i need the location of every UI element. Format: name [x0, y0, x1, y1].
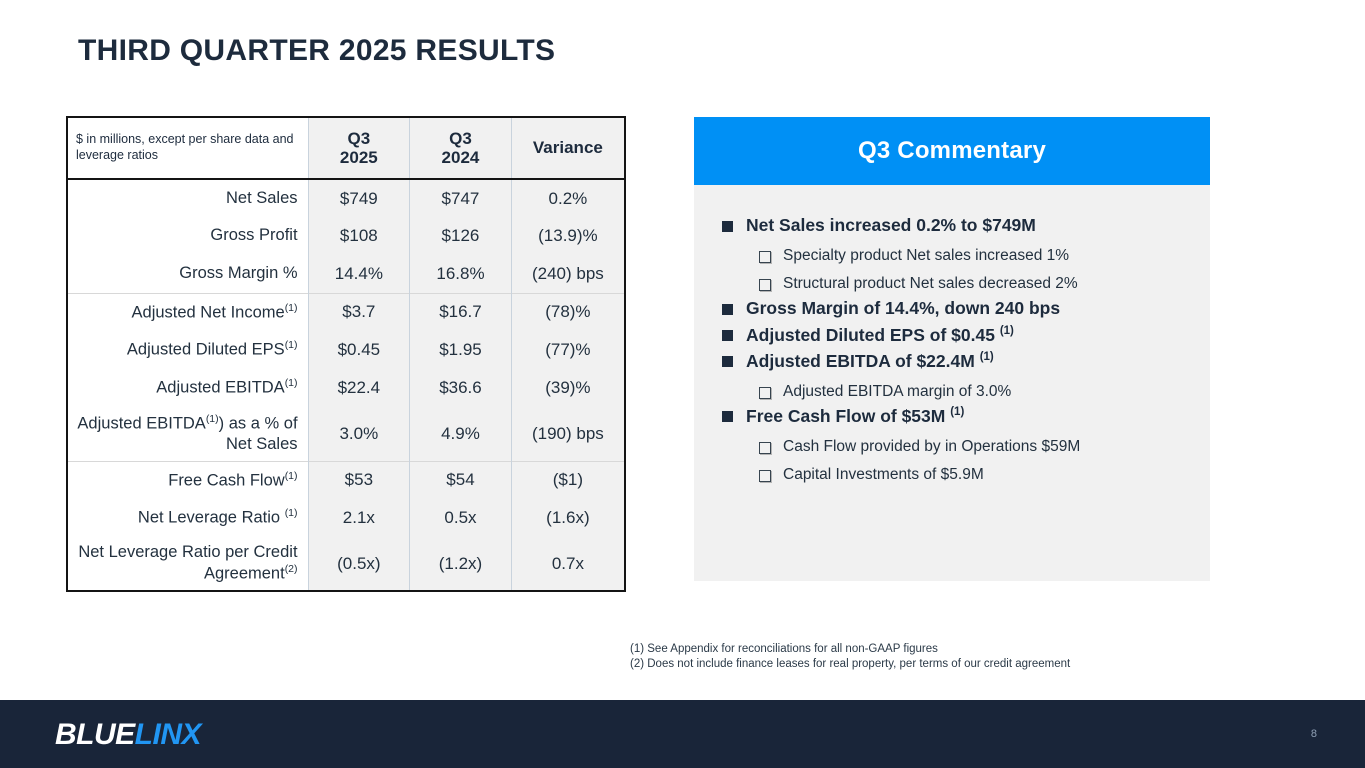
commentary-bullet: Adjusted EBITDA of $22.4M (1)	[722, 350, 1192, 373]
cell-q3-2025: $3.7	[308, 293, 410, 331]
footnote-2: (2) Does not include finance leases for …	[630, 657, 1070, 672]
cell-variance: ($1)	[511, 461, 625, 499]
commentary-bullet: Free Cash Flow of $53M (1)	[722, 405, 1192, 428]
commentary-subbullet: Structural product Net sales decreased 2…	[759, 274, 1192, 293]
cell-variance: 0.2%	[511, 179, 625, 217]
cell-q3-2025: (0.5x)	[308, 537, 410, 591]
financial-results-table: $ in millions, except per share data and…	[66, 116, 626, 592]
cell-q3-2024: 0.5x	[410, 499, 512, 537]
commentary-panel: Q3 Commentary Net Sales increased 0.2% t…	[694, 117, 1210, 581]
commentary-bullet-text: Adjusted EBITDA of $22.4M (1)	[746, 350, 994, 373]
page-number: 8	[1311, 728, 1317, 740]
table-row: Gross Profit$108$126(13.9)%	[67, 217, 625, 255]
cell-variance: (39)%	[511, 369, 625, 407]
filled-square-bullet-icon	[722, 411, 733, 422]
commentary-bullet: Adjusted Diluted EPS of $0.45 (1)	[722, 324, 1192, 347]
table-header-q3-2024: Q3 2024	[410, 117, 512, 179]
table-row: Gross Margin %14.4%16.8%(240) bps	[67, 255, 625, 293]
table-body: Net Sales$749$7470.2%Gross Profit$108$12…	[67, 179, 625, 591]
cell-variance: (13.9)%	[511, 217, 625, 255]
cell-q3-2024: $54	[410, 461, 512, 499]
cell-q3-2024: $747	[410, 179, 512, 217]
row-label: Net Sales	[67, 179, 308, 217]
cell-variance: 0.7x	[511, 537, 625, 591]
logo-text-blue: BLUE	[55, 718, 135, 751]
cell-q3-2025: 2.1x	[308, 499, 410, 537]
bullet-footnote-marker: (1)	[950, 406, 964, 418]
row-label: Adjusted Net Income(1)	[67, 293, 308, 331]
table-row: Adjusted Net Income(1)$3.7$16.7(78)%	[67, 293, 625, 331]
cell-q3-2025: $22.4	[308, 369, 410, 407]
cell-q3-2025: $0.45	[308, 331, 410, 369]
cell-variance: (190) bps	[511, 407, 625, 461]
footnote-1: (1) See Appendix for reconciliations for…	[630, 642, 1070, 657]
filled-square-bullet-icon	[722, 304, 733, 315]
cell-q3-2024: 4.9%	[410, 407, 512, 461]
table-header-units-note: $ in millions, except per share data and…	[67, 117, 308, 179]
commentary-subbullet-text: Specialty product Net sales increased 1%	[783, 246, 1069, 265]
row-label: Adjusted Diluted EPS(1)	[67, 331, 308, 369]
hollow-square-bullet-icon	[759, 279, 771, 291]
hollow-square-bullet-icon	[759, 442, 771, 454]
commentary-bullet-group: Free Cash Flow of $53M (1)Cash Flow prov…	[722, 405, 1192, 484]
table-row: Net Leverage Ratio per Credit Agreement(…	[67, 537, 625, 591]
cell-q3-2025: $749	[308, 179, 410, 217]
table-row: Net Sales$749$7470.2%	[67, 179, 625, 217]
header-q3-2024-line1: Q3	[449, 129, 472, 148]
commentary-bullet-group: Adjusted Diluted EPS of $0.45 (1)	[722, 324, 1192, 347]
row-label: Net Leverage Ratio (1)	[67, 499, 308, 537]
commentary-subbullet-text: Cash Flow provided by in Operations $59M	[783, 437, 1080, 456]
footnotes: (1) See Appendix for reconciliations for…	[630, 642, 1070, 672]
cell-q3-2024: $16.7	[410, 293, 512, 331]
hollow-square-bullet-icon	[759, 470, 771, 482]
commentary-bullet-text: Adjusted Diluted EPS of $0.45 (1)	[746, 324, 1014, 347]
commentary-bullet-group: Adjusted EBITDA of $22.4M (1)Adjusted EB…	[722, 350, 1192, 401]
filled-square-bullet-icon	[722, 330, 733, 341]
table-row: Adjusted EBITDA(1)$22.4$36.6(39)%	[67, 369, 625, 407]
commentary-bullet-text: Net Sales increased 0.2% to $749M	[746, 215, 1036, 237]
commentary-header: Q3 Commentary	[694, 117, 1210, 185]
cell-q3-2024: $36.6	[410, 369, 512, 407]
commentary-subbullet-text: Structural product Net sales decreased 2…	[783, 274, 1078, 293]
commentary-body: Net Sales increased 0.2% to $749MSpecial…	[694, 185, 1210, 581]
bluelinx-logo: BLUELINX	[55, 718, 201, 752]
slide: THIRD QUARTER 2025 RESULTS $ in millions…	[0, 0, 1365, 768]
commentary-bullet-group: Net Sales increased 0.2% to $749MSpecial…	[722, 215, 1192, 294]
table-header-q3-2025: Q3 2025	[308, 117, 410, 179]
commentary-bullet-group: Gross Margin of 14.4%, down 240 bps	[722, 298, 1192, 320]
row-label: Adjusted EBITDA(1)) as a % of Net Sales	[67, 407, 308, 461]
table-header-variance: Variance	[511, 117, 625, 179]
cell-q3-2024: $126	[410, 217, 512, 255]
table-row: Free Cash Flow(1)$53$54($1)	[67, 461, 625, 499]
cell-q3-2024: $1.95	[410, 331, 512, 369]
bullet-footnote-marker: (1)	[980, 351, 994, 363]
commentary-subbullet: Cash Flow provided by in Operations $59M	[759, 437, 1192, 456]
cell-q3-2025: $53	[308, 461, 410, 499]
commentary-subbullet: Specialty product Net sales increased 1%	[759, 246, 1192, 265]
logo-text-linx: LINX	[135, 718, 201, 751]
commentary-subbullet: Capital Investments of $5.9M	[759, 465, 1192, 484]
commentary-subbullet-text: Adjusted EBITDA margin of 3.0%	[783, 382, 1011, 401]
table-header-row: $ in millions, except per share data and…	[67, 117, 625, 179]
cell-q3-2024: (1.2x)	[410, 537, 512, 591]
cell-variance: (77)%	[511, 331, 625, 369]
hollow-square-bullet-icon	[759, 387, 771, 399]
header-q3-2024-line2: 2024	[442, 148, 480, 167]
row-label: Gross Profit	[67, 217, 308, 255]
bullet-footnote-marker: (1)	[1000, 325, 1014, 337]
commentary-bullet: Gross Margin of 14.4%, down 240 bps	[722, 298, 1192, 320]
row-label: Net Leverage Ratio per Credit Agreement(…	[67, 537, 308, 591]
row-label: Gross Margin %	[67, 255, 308, 293]
header-q3-2025-line2: 2025	[340, 148, 378, 167]
footer-bar: BLUELINX 8	[0, 700, 1365, 768]
table-row: Net Leverage Ratio (1)2.1x0.5x(1.6x)	[67, 499, 625, 537]
commentary-bullet-text: Gross Margin of 14.4%, down 240 bps	[746, 298, 1060, 320]
cell-q3-2025: 3.0%	[308, 407, 410, 461]
table-row: Adjusted EBITDA(1)) as a % of Net Sales3…	[67, 407, 625, 461]
page-title: THIRD QUARTER 2025 RESULTS	[78, 34, 555, 68]
commentary-subbullet: Adjusted EBITDA margin of 3.0%	[759, 382, 1192, 401]
commentary-subbullet-text: Capital Investments of $5.9M	[783, 465, 984, 484]
cell-q3-2025: $108	[308, 217, 410, 255]
cell-variance: (1.6x)	[511, 499, 625, 537]
hollow-square-bullet-icon	[759, 251, 771, 263]
filled-square-bullet-icon	[722, 221, 733, 232]
row-label: Adjusted EBITDA(1)	[67, 369, 308, 407]
row-label: Free Cash Flow(1)	[67, 461, 308, 499]
cell-variance: (240) bps	[511, 255, 625, 293]
filled-square-bullet-icon	[722, 356, 733, 367]
header-q3-2025-line1: Q3	[348, 129, 371, 148]
table-row: Adjusted Diluted EPS(1)$0.45$1.95(77)%	[67, 331, 625, 369]
cell-q3-2025: 14.4%	[308, 255, 410, 293]
commentary-bullet: Net Sales increased 0.2% to $749M	[722, 215, 1192, 237]
commentary-bullet-text: Free Cash Flow of $53M (1)	[746, 405, 964, 428]
cell-variance: (78)%	[511, 293, 625, 331]
commentary-title: Q3 Commentary	[858, 137, 1046, 165]
cell-q3-2024: 16.8%	[410, 255, 512, 293]
